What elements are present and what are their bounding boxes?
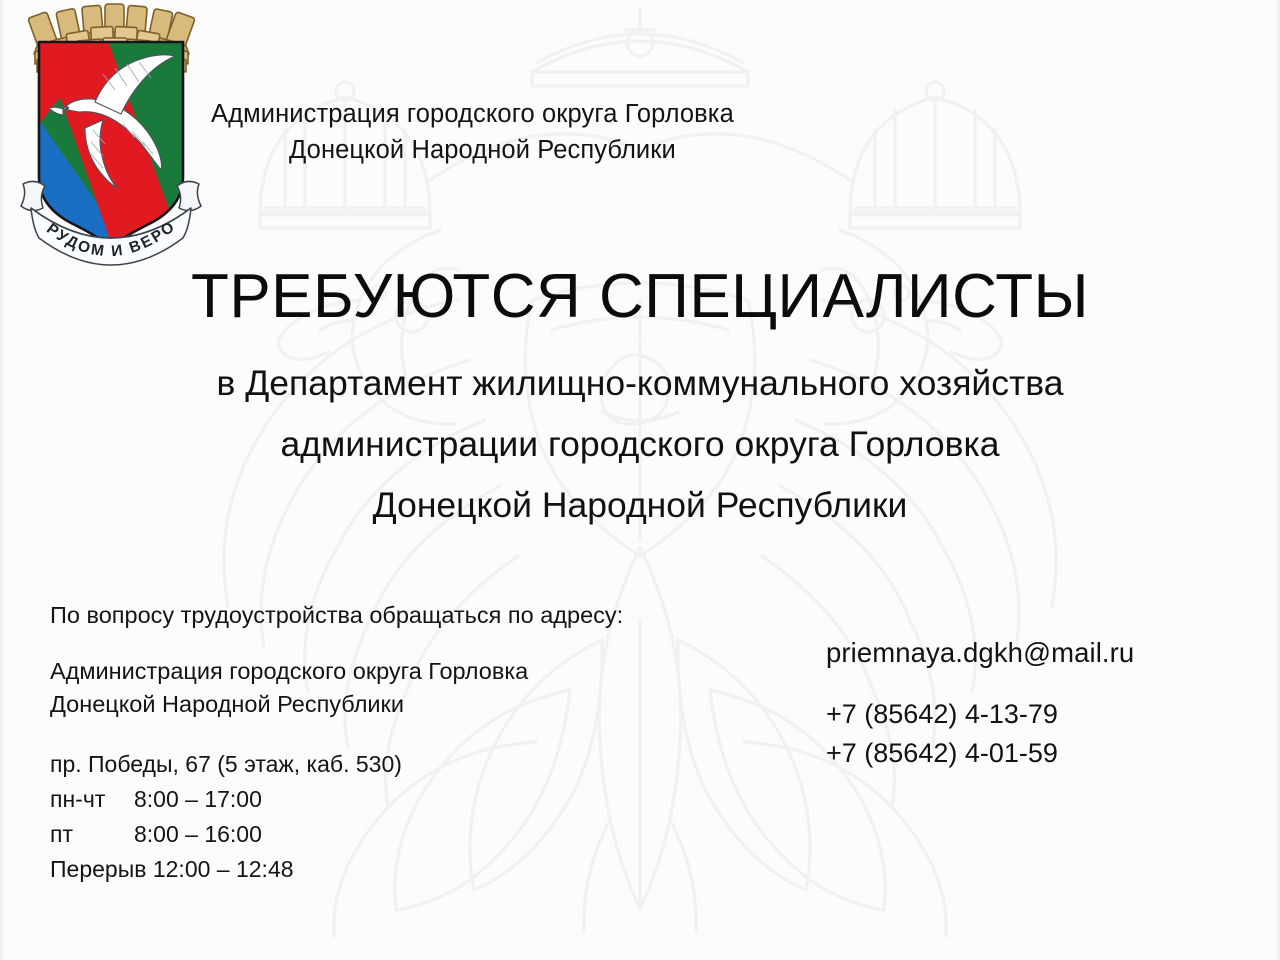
hours-row-friday: пт8:00 – 16:00 [50,817,623,852]
hero-subtitle-line-3: Донецкой Народной Республики [3,475,1277,536]
contact-hours: пр. Победы, 67 (5 этаж, каб. 530) пн-чт8… [50,747,623,887]
hours-row-weekdays: пн-чт8:00 – 17:00 [50,782,623,817]
organisation-line-2: Донецкой Народной Республики [211,132,734,168]
contacts-right-block: priemnaya.dgkh@mail.ru +7 (85642) 4-13-7… [826,637,1134,773]
contact-organisation-line-1: Администрация городского округа Горловка [50,655,623,688]
break-label: Перерыв [50,856,146,882]
hours-label-friday: пт [50,817,134,852]
poster-header: ТРУДОМ И ВЕРОЙ Администрация городского … [3,0,1277,267]
email-address[interactable]: priemnaya.dgkh@mail.ru [826,637,1134,669]
hero-subtitle: в Департамент жилищно-коммунального хозя… [3,353,1277,536]
hours-row-break: Перерыв 12:00 – 12:48 [50,852,623,887]
hours-value-friday: 8:00 – 16:00 [134,821,262,847]
contact-organisation-line-2: Донецкой Народной Республики [50,688,623,721]
hours-label-weekdays: пн-чт [50,782,134,817]
contacts-block: По вопросу трудоустройства обращаться по… [50,600,623,887]
phone-number-1[interactable]: +7 (85642) 4-13-79 [826,695,1134,734]
contact-address: пр. Победы, 67 (5 этаж, каб. 530) [50,747,623,782]
hero-subtitle-line-1: в Департамент жилищно-коммунального хозя… [3,353,1277,414]
break-value: 12:00 – 12:48 [153,856,294,882]
page-title: ТРЕБУЮТСЯ СПЕЦИАЛИСТЫ [3,264,1277,331]
organisation-line-1: Администрация городского округа Горловка [211,96,734,132]
phone-number-2[interactable]: +7 (85642) 4-01-59 [826,734,1134,773]
contact-organisation: Администрация городского округа Горловка… [50,655,623,722]
hero-block: ТРЕБУЮТСЯ СПЕЦИАЛИСТЫ в Департамент жили… [3,264,1277,536]
hero-subtitle-line-2: администрации городского округа Горловка [3,414,1277,475]
hours-value-weekdays: 8:00 – 17:00 [134,786,262,812]
organisation-name: Администрация городского округа Горловка… [211,96,734,168]
contact-intro-text: По вопросу трудоустройства обращаться по… [50,600,623,631]
gorlovka-coat-of-arms-icon: ТРУДОМ И ВЕРОЙ [11,2,211,267]
poster-canvas: ТРУДОМ И ВЕРОЙ Администрация городского … [0,0,1280,960]
phone-numbers: +7 (85642) 4-13-79 +7 (85642) 4-01-59 [826,695,1134,773]
